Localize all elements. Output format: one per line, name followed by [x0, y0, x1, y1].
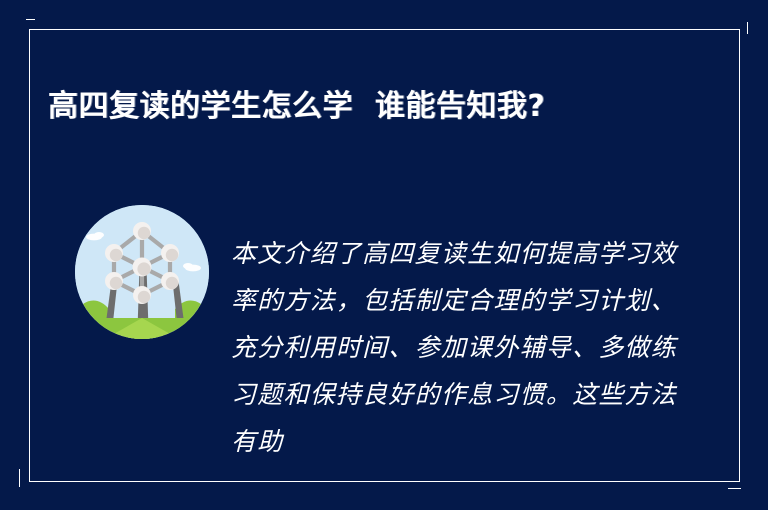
frame-mask-bottom [12, 487, 728, 501]
article-card: 高四复读的学生怎么学 谁能告知我? [0, 0, 768, 510]
frame-mask-right [741, 34, 753, 496]
content-row: 本文介绍了高四复读生如何提高学习效率的方法，包括制定合理的学习计划、充分利用时间… [48, 196, 708, 466]
page-title: 高四复读的学生怎么学 谁能告知我? [48, 82, 688, 131]
frame-mask-left [14, 14, 26, 469]
article-summary: 本文介绍了高四复读生如何提高学习效率的方法，包括制定合理的学习计划、充分利用时间… [231, 230, 677, 465]
atomium-monument-icon [75, 205, 209, 339]
frame-mask-top [35, 10, 750, 22]
